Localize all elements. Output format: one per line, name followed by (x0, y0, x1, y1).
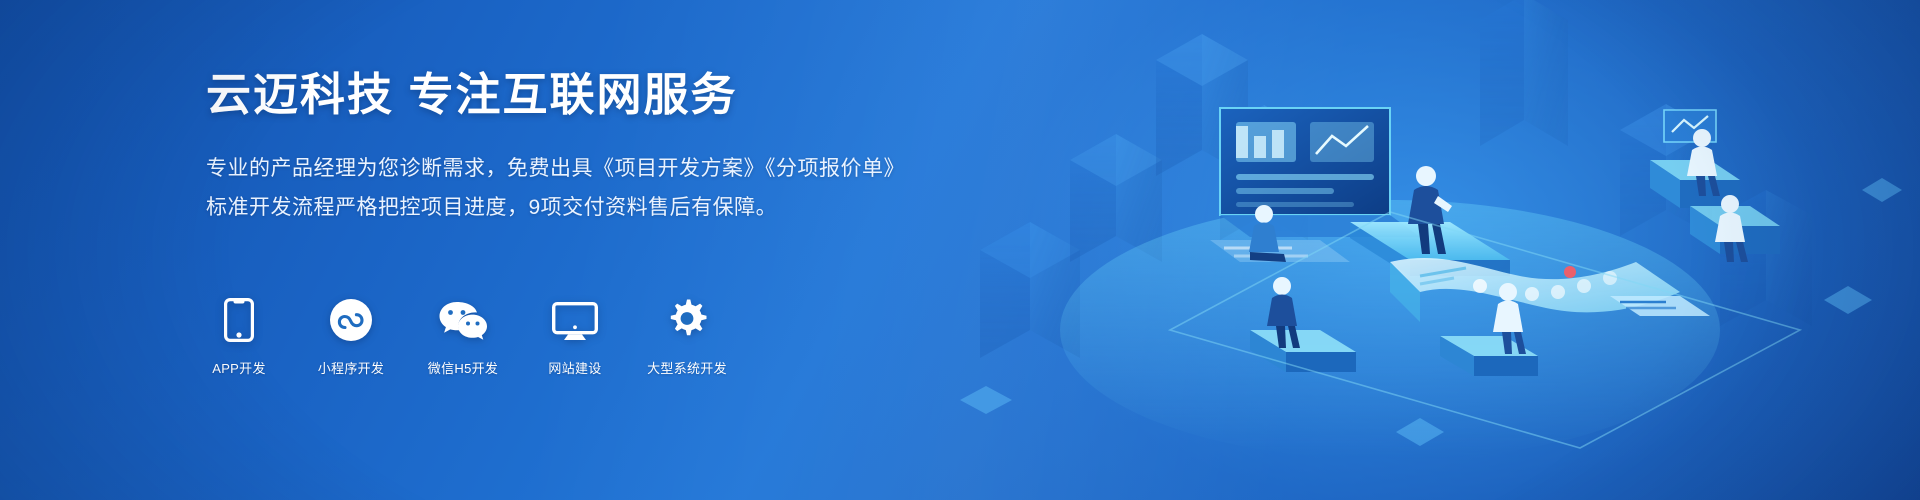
subtitle-line-1: 专业的产品经理为您诊断需求，免费出具《项目开发方案》《分项报价单》 (206, 150, 906, 187)
page-title: 云迈科技 专注互联网服务 (206, 68, 906, 122)
banner-copy: 云迈科技 专注互联网服务 专业的产品经理为您诊断需求，免费出具《项目开发方案》《… (206, 68, 906, 227)
mini-program-icon (329, 296, 373, 342)
service-label: 网站建设 (548, 358, 601, 377)
service-item-website[interactable]: 网站建设 (536, 296, 614, 377)
illustration-isometric-tech (920, 0, 1920, 500)
service-item-mini-program[interactable]: 小程序开发 (312, 296, 390, 377)
service-label: 小程序开发 (318, 358, 385, 377)
mobile-phone-icon (224, 296, 254, 342)
desktop-monitor-icon (552, 296, 598, 342)
service-label: 大型系统开发 (647, 358, 727, 377)
gear-icon (665, 296, 709, 342)
service-label: APP开发 (212, 358, 266, 377)
wechat-icon (438, 296, 488, 342)
service-label: 微信H5开发 (428, 358, 498, 377)
service-item-wechat-h5[interactable]: 微信H5开发 (424, 296, 502, 377)
service-list: APP开发 小程序开发 微信 (200, 296, 726, 377)
subtitle-line-2: 标准开发流程严格把控项目进度，9项交付资料售后有保障。 (206, 189, 906, 226)
service-item-app[interactable]: APP开发 (200, 296, 278, 377)
hero-banner: 云迈科技 专注互联网服务 专业的产品经理为您诊断需求，免费出具《项目开发方案》《… (0, 0, 1920, 500)
banner-subtitle: 专业的产品经理为您诊断需求，免费出具《项目开发方案》《分项报价单》 标准开发流程… (206, 150, 906, 227)
service-item-large-system[interactable]: 大型系统开发 (648, 296, 726, 377)
